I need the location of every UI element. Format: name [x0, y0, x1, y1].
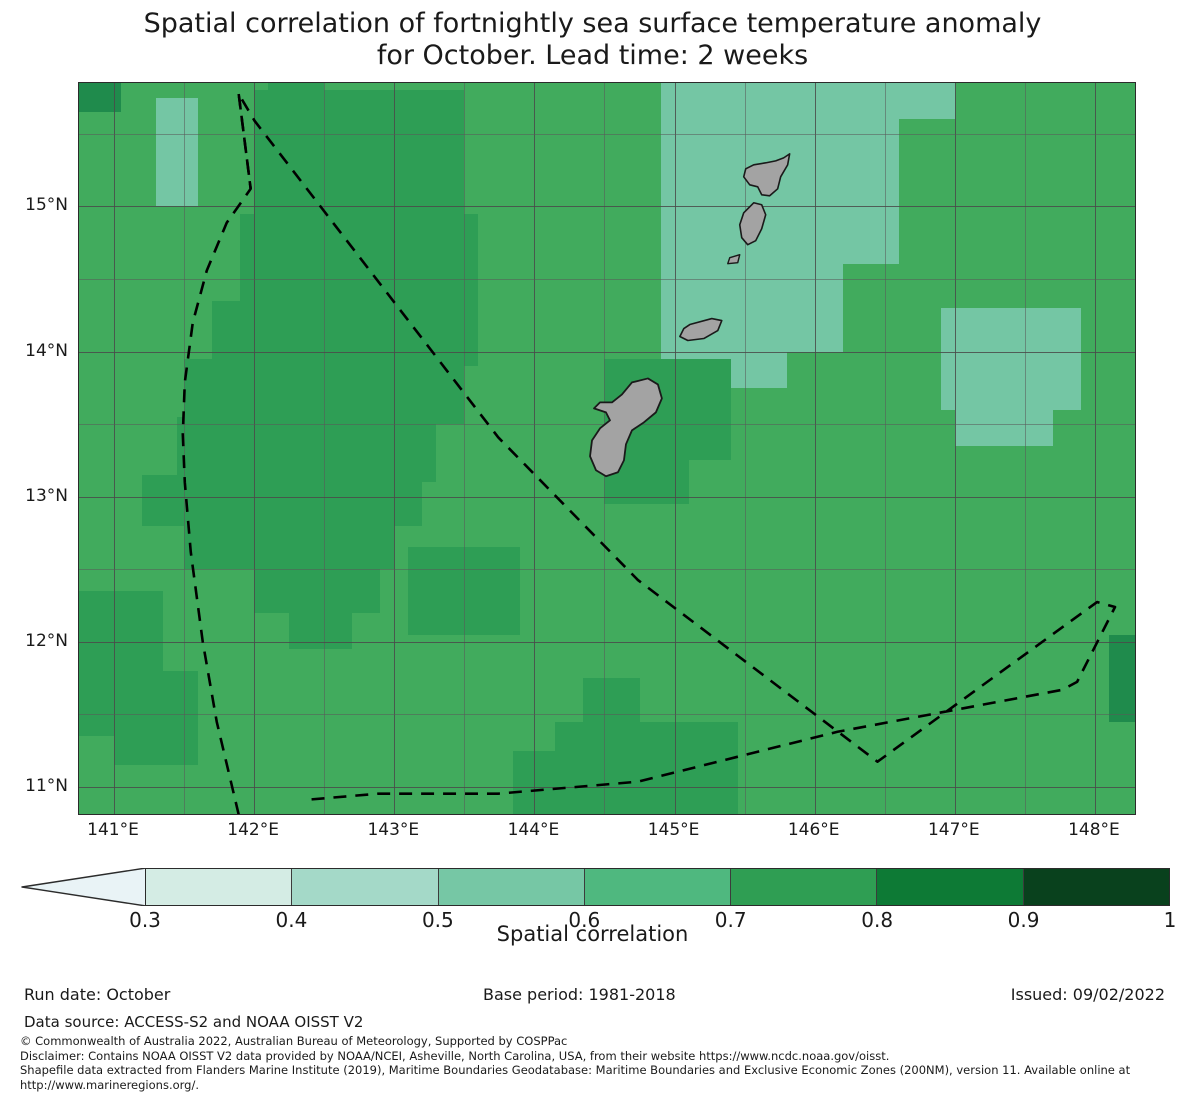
shapefile-line: Shapefile data extracted from Flanders M…	[20, 1063, 1180, 1092]
footer-meta: Run date: October Base period: 1981-2018…	[0, 985, 1185, 1007]
y-tick-15°N: 15°N	[68, 195, 111, 215]
eez-boundary-line	[183, 94, 1115, 815]
x-tick-141°E: 141°E	[87, 820, 139, 840]
disclaimer-line: Disclaimer: Contains NOAA OISST V2 data …	[20, 1049, 1180, 1064]
guam-island	[590, 378, 662, 476]
colorbar-extend-min-arrow	[20, 868, 146, 906]
page-title: Spatial correlation of fortnightly sea s…	[0, 8, 1185, 72]
colorbar-segment-4	[731, 869, 877, 905]
colorbar-segment-6	[1024, 869, 1169, 905]
aguijan-islet	[728, 255, 740, 264]
colorbar-segment-5	[877, 869, 1023, 905]
map-axes[interactable]	[78, 82, 1136, 815]
x-tick-145°E: 145°E	[648, 820, 700, 840]
rota-island	[680, 319, 722, 341]
x-tick-147°E: 147°E	[928, 820, 980, 840]
y-tick-12°N: 12°N	[68, 631, 111, 651]
title-line-1: Spatial correlation of fortnightly sea s…	[144, 8, 1042, 39]
colorbar-segment-2	[439, 869, 585, 905]
y-tick-14°N: 14°N	[68, 341, 111, 361]
colorbar-segment-3	[585, 869, 731, 905]
issued-date: Issued: 09/02/2022	[1011, 985, 1165, 1004]
colorbar-label: Spatial correlation	[0, 922, 1185, 946]
x-tick-142°E: 142°E	[227, 820, 279, 840]
run-date: Run date: October	[24, 985, 170, 1004]
y-tick-13°N: 13°N	[68, 486, 111, 506]
colorbar-segment-1	[292, 869, 438, 905]
x-tick-143°E: 143°E	[367, 820, 419, 840]
tinian-island	[740, 203, 766, 245]
colorbar-gradient	[145, 868, 1170, 906]
x-tick-146°E: 146°E	[788, 820, 840, 840]
copyright-line: © Commonwealth of Australia 2022, Austra…	[20, 1034, 1180, 1049]
base-period: Base period: 1981-2018	[483, 985, 676, 1004]
data-source: Data source: ACCESS-S2 and NOAA OISST V2	[24, 1013, 363, 1031]
disclaimer-block: © Commonwealth of Australia 2022, Austra…	[20, 1034, 1180, 1092]
x-tick-148°E: 148°E	[1068, 820, 1120, 840]
figure: Spatial correlation of fortnightly sea s…	[0, 0, 1185, 1095]
x-tick-144°E: 144°E	[508, 820, 560, 840]
colorbar-segment-0	[146, 869, 292, 905]
colorbar[interactable]: 0.30.40.50.60.70.80.91	[20, 868, 1170, 906]
map-overlays	[79, 83, 1135, 815]
title-line-2: for October. Lead time: 2 weeks	[0, 40, 1185, 72]
saipan-island	[744, 154, 790, 196]
y-tick-11°N: 11°N	[68, 776, 111, 796]
